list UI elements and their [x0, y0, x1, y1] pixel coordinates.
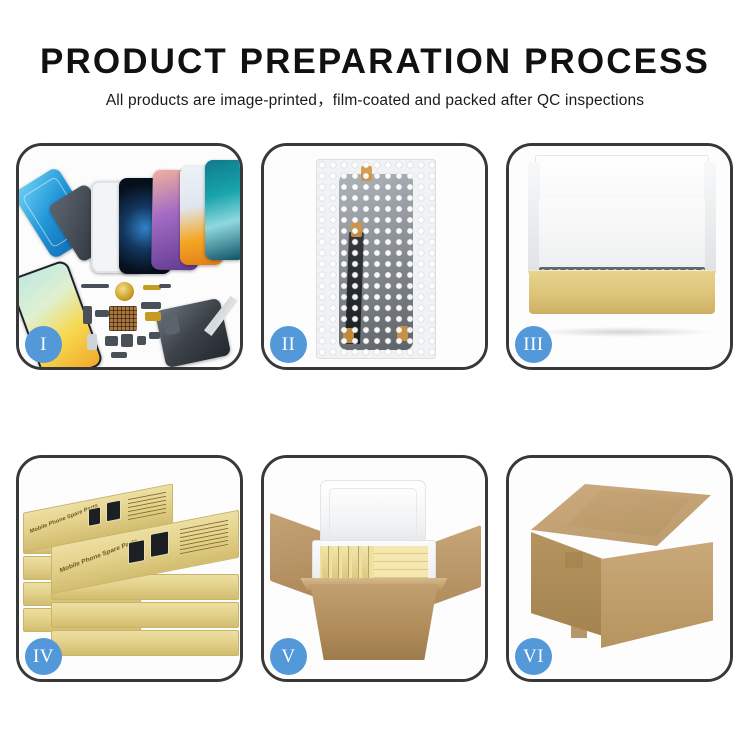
- box-thumbnail: [106, 500, 121, 523]
- carton-side-left: [531, 532, 603, 636]
- carton-front: [300, 584, 448, 660]
- process-step-3: III: [506, 143, 733, 370]
- process-step-2: II: [261, 143, 488, 370]
- kraft-box-base: [529, 270, 715, 314]
- small-part: [83, 306, 92, 324]
- copper-coil-part: [115, 282, 134, 301]
- step-badge: II: [270, 326, 307, 363]
- step-badge: VI: [515, 638, 552, 675]
- carton-tape: [565, 552, 583, 568]
- small-part: [95, 310, 109, 317]
- box-spec-lines: [180, 519, 228, 554]
- small-part: [149, 332, 160, 339]
- process-step-5: V: [261, 455, 488, 682]
- product-preparation-infographic: PRODUCT PREPARATION PROCESS All products…: [0, 0, 750, 750]
- small-part: [159, 284, 171, 288]
- teal-phone: [205, 160, 240, 260]
- small-part: [87, 334, 97, 350]
- foam-box-lid: [320, 480, 426, 548]
- stacked-box: [51, 602, 239, 628]
- chip-grid-part: [109, 306, 137, 331]
- box-spec-lines: [128, 491, 166, 520]
- process-step-6: VI: [506, 455, 733, 682]
- step-badge: IV: [25, 638, 62, 675]
- bubble-texture: [317, 160, 435, 358]
- process-grid: I II: [16, 143, 734, 682]
- box-thumbnail: [128, 539, 145, 564]
- step-badge: V: [270, 638, 307, 675]
- small-part: [137, 336, 146, 345]
- small-part: [105, 336, 118, 346]
- carton-side-right: [601, 542, 713, 648]
- box-thumbnail: [150, 530, 169, 558]
- bubble-wrap-bag: [316, 159, 436, 359]
- small-part: [121, 334, 133, 347]
- box-thumbnail: [88, 506, 101, 527]
- phone-back-housing: [155, 298, 232, 367]
- process-step-1: I: [16, 143, 243, 370]
- page-title: PRODUCT PREPARATION PROCESS: [0, 44, 750, 79]
- small-part: [81, 284, 109, 288]
- box-label: Mobile Phone Spare Parts: [59, 538, 138, 575]
- small-part: [141, 302, 161, 309]
- small-part: [111, 352, 127, 358]
- header: PRODUCT PREPARATION PROCESS All products…: [0, 0, 750, 109]
- stacked-box: [51, 630, 239, 656]
- carton-tape: [571, 624, 587, 638]
- process-step-4: Mobile Phone Spare Parts Mobile Phone Sp…: [16, 455, 243, 682]
- step-badge: I: [25, 326, 62, 363]
- small-part: [145, 312, 161, 321]
- box-shadow: [535, 327, 711, 337]
- page-subtitle: All products are image-printed，film-coat…: [0, 93, 750, 109]
- foam-inner-lining: [539, 198, 705, 276]
- step-badge: III: [515, 326, 552, 363]
